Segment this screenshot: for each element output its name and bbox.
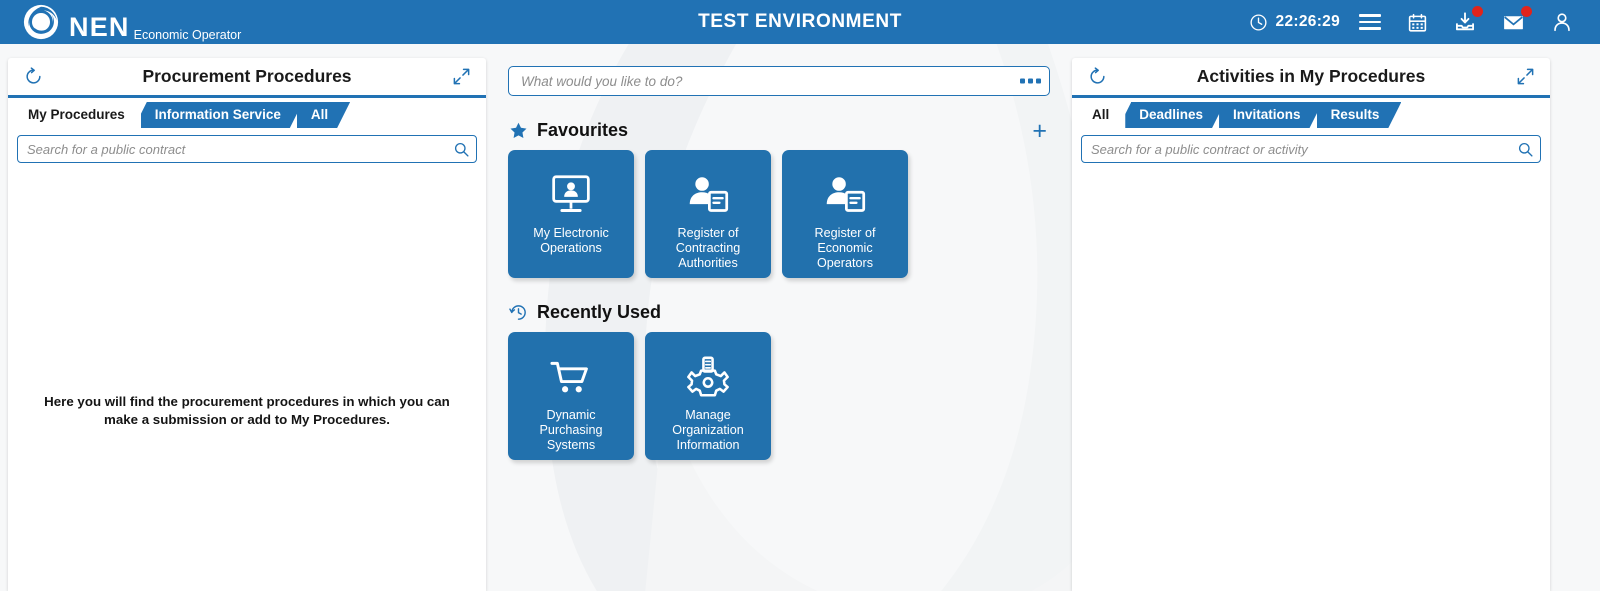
inbox-button[interactable] [1441,0,1489,44]
person-card-icon [823,172,867,218]
procurement-procedures-panel: Procurement Procedures My Procedures Inf… [8,58,486,591]
tab-my-procedures[interactable]: My Procedures [16,102,147,128]
right-panel-refresh-button[interactable] [1084,64,1110,90]
shopping-cart-icon [549,354,593,400]
right-search-box [1081,135,1541,163]
search-icon [453,141,470,158]
tile-label: Register of Contracting Authorities [645,226,771,271]
brand-subtitle: Economic Operator [134,28,242,42]
clock-icon [1249,13,1268,32]
left-search-input[interactable] [18,142,476,157]
history-clock-icon [508,303,528,323]
left-panel-refresh-button[interactable] [20,64,46,90]
brand-name: NEN [69,14,130,41]
tile-dynamic-purchasing-systems[interactable]: Dynamic Purchasing Systems [508,332,634,460]
mail-button[interactable] [1489,0,1538,44]
right-panel-expand-button[interactable] [1512,64,1538,90]
tile-label: Manage Organization Information [645,408,771,453]
mail-notification-badge [1521,6,1532,17]
nen-logo-icon [22,3,60,41]
add-favourite-button[interactable]: + [1029,122,1050,140]
gear-document-icon [686,354,730,400]
tab-all[interactable]: All [297,102,350,128]
hamburger-menu-icon [1359,14,1381,30]
left-search-wrapper [8,128,486,163]
right-panel-tabs: All Deadlines Invitations Results [1072,100,1550,128]
calendar-button[interactable] [1394,0,1441,44]
clock-display: 22:26:29 [1236,0,1346,44]
left-search-button[interactable] [452,140,470,158]
monitor-user-icon [549,172,593,218]
right-search-button[interactable] [1516,140,1534,158]
left-panel-body: Here you will find the procurement proce… [8,163,486,591]
center-column: Favourites + My Electronic Operati [486,44,1072,591]
recently-used-tiles: Dynamic Purchasing Systems Manage Organi… [508,332,1050,460]
favourites-section: Favourites + My Electronic Operati [486,120,1072,278]
top-header-bar: NEN Economic Operator TEST ENVIRONMENT 2… [0,0,1600,44]
tile-label: Dynamic Purchasing Systems [508,408,634,453]
person-card-icon [686,172,730,218]
left-panel-empty-message: Here you will find the procurement proce… [34,393,460,429]
hamburger-menu-button[interactable] [1346,0,1394,44]
activities-loading-placeholder [1221,367,1348,448]
search-icon [1517,141,1534,158]
left-search-box [17,135,477,163]
right-search-wrapper [1072,128,1550,163]
star-icon [508,121,528,141]
expand-icon [452,67,471,86]
favourites-title: Favourites [537,120,628,141]
inbox-notification-badge [1472,6,1483,17]
omnibox-input[interactable] [509,74,1049,89]
recently-used-title: Recently Used [537,302,661,323]
tab-information-service[interactable]: Information Service [141,102,303,128]
favourites-header: Favourites + [508,120,1050,141]
omnibox-wrapper [486,44,1072,96]
expand-icon [1516,67,1535,86]
omnibox [508,66,1050,96]
refresh-icon [1088,67,1107,86]
tab-invitations[interactable]: Invitations [1219,102,1323,128]
left-panel-tabs: My Procedures Information Service All [8,100,486,128]
omnibox-more-icon[interactable] [1020,79,1041,84]
recently-used-section: Recently Used Dynamic Purchasing Systems [486,302,1072,460]
refresh-icon [24,67,43,86]
tile-register-of-contracting-authorities[interactable]: Register of Contracting Authorities [645,150,771,278]
user-account-icon [1551,11,1573,33]
recently-used-header: Recently Used [508,302,1050,323]
tile-label: My Electronic Operations [508,226,634,256]
left-panel-header: Procurement Procedures [8,58,486,98]
tile-label: Register of Economic Operators [782,226,908,271]
tile-manage-organization-information[interactable]: Manage Organization Information [645,332,771,460]
tile-register-of-economic-operators[interactable]: Register of Economic Operators [782,150,908,278]
tile-my-electronic-operations[interactable]: My Electronic Operations [508,150,634,278]
right-panel-body [1072,163,1550,591]
clock-time: 22:26:29 [1276,13,1340,31]
right-panel-title: Activities in My Procedures [1072,66,1550,87]
favourites-tiles: My Electronic Operations Register of Con… [508,150,1050,278]
right-search-input[interactable] [1082,142,1540,157]
user-account-button[interactable] [1538,0,1586,44]
tab-all[interactable]: All [1080,102,1131,128]
tab-results[interactable]: Results [1317,102,1402,128]
left-panel-expand-button[interactable] [448,64,474,90]
right-panel-header: Activities in My Procedures [1072,58,1550,98]
calendar-icon [1407,12,1428,33]
activities-panel: Activities in My Procedures All Deadline… [1072,58,1550,591]
brand-logo-group[interactable]: NEN Economic Operator [22,3,241,41]
application-root: NEN Economic Operator TEST ENVIRONMENT 2… [0,0,1600,591]
left-panel-title: Procurement Procedures [8,66,486,87]
tab-deadlines[interactable]: Deadlines [1125,102,1225,128]
header-actions: 22:26:29 [1236,0,1586,44]
